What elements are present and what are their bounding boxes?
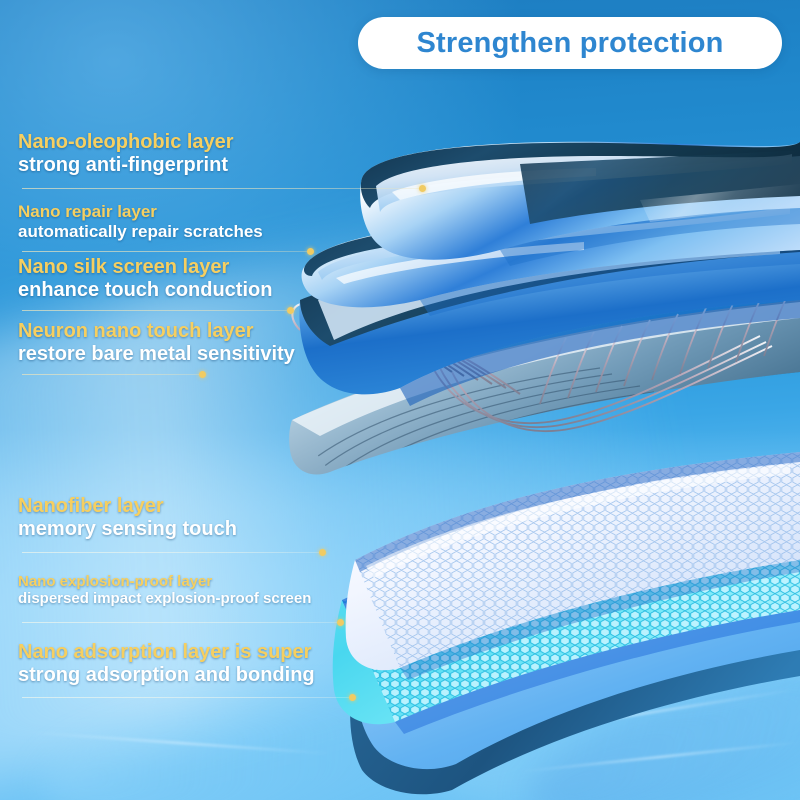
- leader-line-neuron-nano-touch: [22, 374, 202, 375]
- label-title: Nano repair layer: [18, 202, 378, 222]
- leader-line-nanofiber: [22, 552, 322, 553]
- leader-line-nano-silk-screen: [22, 310, 290, 311]
- label-title: Nano adsorption layer is super: [18, 641, 378, 664]
- label-subtitle: dispersed impact explosion-proof screen: [18, 590, 378, 607]
- leader-line-nano-oleophobic: [22, 188, 422, 189]
- label-subtitle: memory sensing touch: [18, 518, 378, 541]
- leader-line-nano-adsorption: [22, 697, 352, 698]
- label-nano-explosion-proof: Nano explosion-proof layer dispersed imp…: [18, 573, 378, 608]
- label-title: Neuron nano touch layer: [18, 320, 378, 343]
- label-subtitle: strong anti-fingerprint: [18, 154, 378, 177]
- label-title: Nano-oleophobic layer: [18, 131, 378, 154]
- leader-line-nano-explosion-proof: [22, 622, 340, 623]
- label-nano-adsorption: Nano adsorption layer is super strong ad…: [18, 641, 378, 687]
- label-nano-repair: Nano repair layer automatically repair s…: [18, 202, 378, 241]
- label-subtitle: strong adsorption and bonding: [18, 664, 378, 687]
- label-nano-silk-screen: Nano silk screen layer enhance touch con…: [18, 256, 378, 302]
- label-title: Nanofiber layer: [18, 495, 378, 518]
- label-subtitle: restore bare metal sensitivity: [18, 343, 378, 366]
- label-subtitle: enhance touch conduction: [18, 279, 378, 302]
- label-neuron-nano-touch: Neuron nano touch layer restore bare met…: [18, 320, 378, 366]
- leader-line-nano-repair: [22, 251, 310, 252]
- label-nanofiber: Nanofiber layer memory sensing touch: [18, 495, 378, 541]
- infographic-canvas: Strengthen protection Nano-oleophobic la…: [0, 0, 800, 800]
- label-subtitle: automatically repair scratches: [18, 222, 378, 242]
- label-nano-oleophobic: Nano-oleophobic layer strong anti-finger…: [18, 131, 378, 177]
- label-title: Nano explosion-proof layer: [18, 573, 378, 590]
- title-banner: Strengthen protection: [358, 17, 782, 69]
- page-title: Strengthen protection: [416, 27, 723, 60]
- label-title: Nano silk screen layer: [18, 256, 378, 279]
